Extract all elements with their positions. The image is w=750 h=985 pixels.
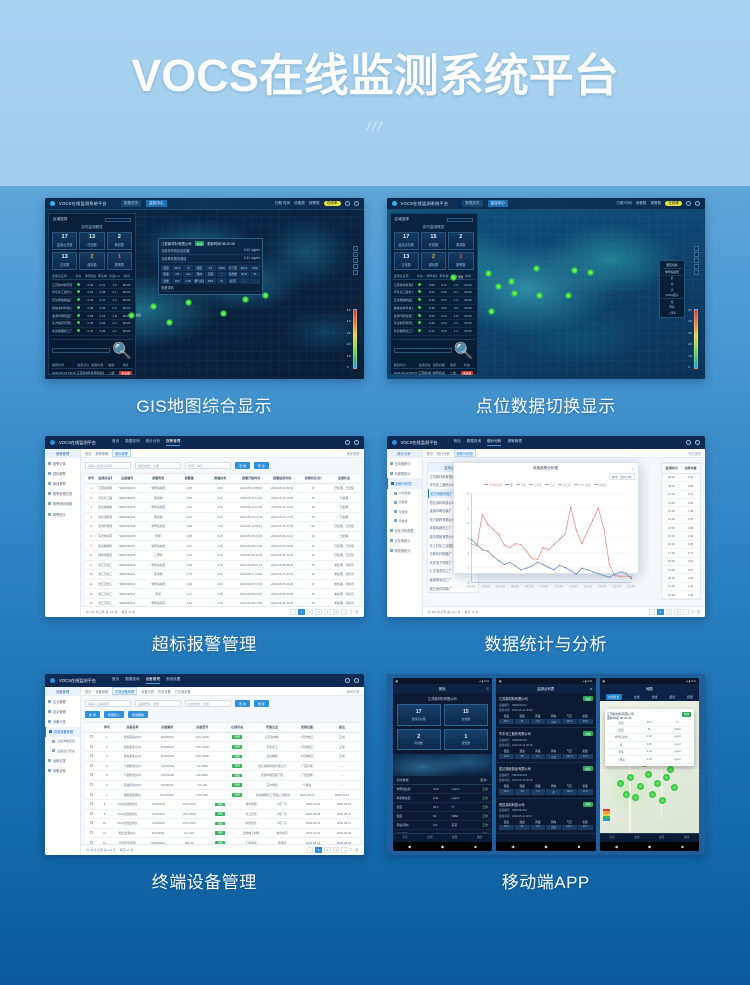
next-page-label[interactable]: 下一页 — [349, 848, 358, 852]
table-row[interactable]: 华东化工股份公司0.510.082.108:20 — [393, 289, 475, 297]
map-tab-全部点位[interactable]: 全部点位 — [606, 694, 622, 700]
table-row[interactable]: 9VOC在线监测仪JC230109VOC-5100在线长江石化2号厂房2022-… — [85, 810, 360, 820]
map-marker[interactable] — [565, 292, 572, 299]
table-row[interactable]: 永泰精细化工厂0.470.091.108:20 — [51, 328, 133, 336]
button-查 询[interactable]: 查 询 — [235, 700, 250, 707]
recents-icon[interactable]: ■ — [681, 844, 683, 849]
breadcrumb-item[interactable]: 报警管理 — [95, 451, 108, 456]
sidebar-item-排放量统计[interactable]: 排放量统计 — [387, 546, 422, 556]
breadcrumb-action[interactable]: 刷新列表 — [347, 689, 360, 694]
help-icon[interactable] — [686, 440, 691, 445]
menu-item-报警管理[interactable]: 报警管理 — [166, 439, 180, 446]
map-marker[interactable] — [128, 312, 135, 319]
map-marker[interactable] — [533, 265, 540, 272]
home-icon[interactable]: ◆ — [648, 844, 651, 849]
breadcrumb-item[interactable]: 超标报警 — [112, 449, 131, 457]
sidebar-item-设备台账[interactable]: 设备台账 — [45, 765, 80, 775]
row-checkbox[interactable] — [90, 812, 93, 815]
stat-card[interactable]: 13正常数 — [394, 252, 419, 270]
table-cell: 10 — [85, 572, 97, 576]
button-新 增[interactable]: 新 增 — [85, 711, 100, 718]
table-cell: 0.46 — [681, 576, 700, 580]
table-row[interactable]: 东方制药有限公司0.290.042.408:20 — [51, 320, 133, 328]
breadcrumb-item[interactable]: 已注册设备 — [175, 689, 191, 694]
table-header-row: 序号监测点名称设备编号报警类型报警值限值标准报警开始时间报警结束时间持续时长(分… — [85, 473, 360, 484]
prev-page-button[interactable]: ‹ — [649, 609, 655, 615]
data-row[interactable]: 温度25.3℃正常 — [393, 803, 493, 812]
filter-input[interactable]: 时间：本月 — [185, 462, 231, 469]
map-marker[interactable] — [617, 780, 624, 787]
back-icon[interactable]: ◀ — [615, 844, 618, 849]
data-row[interactable]: 苯系物浓度0.11mg/m³正常 — [393, 794, 493, 803]
value-table-row[interactable]: 19:000.51 — [662, 566, 700, 574]
sidebar-item-icon — [390, 539, 393, 542]
sidebar-item-报警规则设置[interactable]: 报警规则设置 — [45, 499, 80, 509]
table-row[interactable]: 5气相色谱仪02QX230105GC-9800在线金源印刷包装厂区厂区西侧— — [85, 771, 360, 781]
map-marker[interactable] — [663, 774, 670, 781]
value-table-row[interactable]: 14:000.88 — [662, 524, 700, 532]
map-marker[interactable] — [637, 783, 644, 790]
table-row[interactable]: 1江苏新材料有限公司SB20230101非甲烷总烃2.852.002023-05… — [85, 484, 360, 494]
table-row[interactable]: 5金源印刷包装厂SB20230105非甲烷总烃4.082.002023-05-1… — [85, 522, 360, 532]
page-number-1[interactable]: 1 — [657, 609, 664, 615]
sidebar-item-设备运行状态[interactable]: 设备运行状态 — [45, 746, 80, 755]
table-row[interactable]: 宏达橡胶制品厂0.430.071.208:20 — [51, 297, 133, 305]
map-tab-离线[interactable]: 离线 — [652, 695, 658, 699]
page-number-2[interactable]: 2 — [666, 609, 673, 615]
svg-text:08:00: 08:00 — [525, 585, 534, 589]
value-table-row[interactable]: 13:000.55 — [662, 516, 700, 524]
table-row[interactable]: 6东方制药有限公司SB20230106甲苯0.380.252023-05-09 … — [85, 532, 360, 542]
sidebar-item-日均值统计[interactable]: 日均值统计 — [387, 458, 422, 468]
page-number-1[interactable]: 1 — [298, 609, 305, 615]
page-number-2[interactable]: 2 — [324, 847, 331, 853]
table-row[interactable]: 4恒信涂料科技公司SB20230104苯系物0.610.402023-05-10… — [85, 513, 360, 523]
table-row[interactable]: 6风速风向仪01FS230106FX-120在线东方制药气象站— — [85, 781, 360, 791]
region-select[interactable] — [105, 218, 131, 222]
table-row[interactable]: 2终端采集仪02ZD230102VOC-3000在线华东化工2号排放口正常 — [85, 742, 360, 752]
user-icon[interactable] — [686, 201, 691, 206]
map-marker[interactable] — [645, 771, 652, 778]
row-checkbox[interactable] — [90, 831, 93, 834]
stat-card[interactable]: 1报警数 — [448, 252, 473, 270]
page-number-4[interactable]: 4 — [324, 609, 331, 615]
back-icon[interactable]: ◀ — [408, 844, 411, 849]
search-icon[interactable]: 🔍 — [454, 341, 474, 361]
sidebar-item-企业管理[interactable]: 企业管理 — [45, 696, 80, 706]
phone-title-action-icon[interactable]: ☰ — [486, 687, 489, 691]
stat-card[interactable]: 13在线数 — [79, 232, 104, 250]
tab-我的[interactable]: 我的 — [684, 836, 689, 839]
table-row[interactable]: 江苏新材料有限公司0.620.111.508:20 — [51, 281, 133, 289]
map-control-button[interactable] — [353, 252, 358, 257]
map-marker[interactable] — [150, 303, 157, 310]
value-table-row[interactable]: 15:001.02 — [662, 532, 700, 540]
menu-item-报警管理[interactable]: 报警管理 — [507, 439, 521, 446]
screenshot-point-switch[interactable]: VOCS在线监测系统平台数据总览监控中心日期 时间设备数报警数在线率区域选择实时… — [387, 198, 706, 379]
breadcrumb-item[interactable]: 终端设备管理 — [112, 687, 137, 695]
table-cell: 0.40 — [205, 496, 236, 500]
next-page-button[interactable]: › — [341, 847, 347, 853]
tab-报警[interactable]: 报警 — [452, 836, 457, 839]
map-marker[interactable] — [587, 269, 594, 276]
map-control-button[interactable] — [694, 246, 699, 251]
breadcrumb-item[interactable]: 统计分析 — [437, 451, 450, 456]
row-checkbox[interactable] — [90, 821, 93, 824]
user-avatar-icon[interactable] — [354, 678, 359, 683]
status-badge: 在线 — [215, 831, 225, 835]
screenshot-gis-map[interactable]: VOCS在线监测系统平台数据总览监控中心日期 时间设备数报警数在线率区域选择实时… — [45, 198, 364, 379]
tab-监测[interactable]: 监测 — [427, 836, 432, 839]
nav-item-数据总览[interactable]: 数据总览 — [462, 200, 482, 207]
row-checkbox[interactable] — [90, 783, 93, 786]
button-批量删除[interactable]: 批量删除 — [128, 711, 148, 718]
map-control-button[interactable] — [694, 264, 699, 269]
legend-item-乙苯[interactable]: 乙苯 — [545, 483, 555, 487]
table-row[interactable]: 11粉尘监测仪01FC230111FC-200在线天成电子材料抛光车间2022-… — [85, 829, 360, 839]
alarm-row[interactable]: 2023-05-12 08:15江苏新材料非甲烷总烃超标，浓度 2.85mg/m… — [51, 370, 133, 378]
map-control-button[interactable] — [353, 264, 358, 269]
alarm-row[interactable]: 2023-05-12 07:48金源印刷包装苯系物浓度超标报警信息提示一级未处理 — [393, 377, 475, 379]
menu-item-数据查询[interactable]: 数据查询 — [125, 677, 139, 684]
table-row[interactable]: 12长江石化工业园区SB20230112甲苯0.410.252023-05-06… — [85, 589, 360, 599]
menu-item-统计分析[interactable]: 统计分析 — [487, 439, 501, 446]
popup-measure-cell: % — [250, 272, 260, 278]
legend-item[interactable]: 二甲苯 — [662, 310, 683, 316]
map-marker[interactable] — [654, 780, 661, 787]
stat-card[interactable]: 2离线数 — [448, 232, 473, 250]
table-row[interactable]: 8VOC在线监测仪JC230108VOC-5100在线瑞丰塑胶1号厂房2022-… — [85, 800, 360, 810]
list-item[interactable]: 宏达橡胶制品有限公司设备编号：SB20230103更新时间：2023-05-12… — [496, 763, 596, 798]
more-link[interactable]: 更多> — [480, 778, 488, 782]
home-icon[interactable]: ◆ — [545, 844, 548, 849]
prev-page-button[interactable]: ‹ — [307, 847, 313, 853]
table-row[interactable]: 10VOC在线监测仪JC230110VOC-5100在线中原化纤3号厂房2022… — [85, 819, 360, 829]
site-selector[interactable]: 江苏新材料有限公司 — [393, 693, 493, 704]
list-item[interactable]: 江苏新材料有限公司设备编号：SB20230101更新时间：2023-05-12 … — [496, 693, 596, 728]
button-批量导入[interactable]: 批量导入 — [104, 711, 124, 718]
breadcrumb-item[interactable]: 设备列表 — [141, 689, 154, 694]
sidebar-item-设备参数配置[interactable]: 设备参数配置 — [45, 737, 80, 746]
user-icon[interactable] — [345, 201, 350, 206]
list-item[interactable]: 华东化工股份有限公司设备编号：SB20230102更新时间：2023-05-12… — [496, 728, 596, 763]
value-table-row[interactable]: 16:000.93 — [662, 541, 700, 549]
stat-card[interactable]: 15在线数 — [444, 704, 488, 726]
table-row[interactable]: 4气相色谱仪01QX230104GC-9800在线恒信涂料科技有限公司厂区东侧— — [85, 762, 360, 772]
sidebar-item-离线报警[interactable]: 离线报警 — [45, 478, 80, 488]
breadcrumb-item[interactable]: 在线设备 — [158, 689, 171, 694]
stat-card[interactable]: 17监测点总数 — [397, 704, 441, 726]
tab-首页[interactable]: 首页 — [402, 836, 407, 839]
button-查 询[interactable]: 查 询 — [235, 462, 250, 469]
table-row[interactable]: 1终端采集仪01ZD230101VOC-3000在线江苏新材料1号排放口正常 — [85, 733, 360, 743]
sidebar-item-设备分类[interactable]: 设备分类 — [45, 716, 80, 726]
page-size[interactable]: 每页 15 条 — [121, 610, 135, 614]
next-page-label[interactable]: 下一页 — [691, 610, 700, 614]
breadcrumb-action[interactable]: 刷新数据 — [347, 451, 360, 456]
page-number-3[interactable]: 3 — [674, 609, 681, 615]
value-table-row[interactable]: 18:000.64 — [662, 558, 700, 566]
user-avatar-icon[interactable] — [695, 440, 700, 445]
legend-item-苯[interactable]: 苯 — [505, 483, 513, 487]
sidebar-item-超标报警[interactable]: 超标报警 — [45, 468, 80, 478]
value-table-row[interactable]: 08:000.62 — [662, 474, 700, 482]
sidebar-item-对比分析报表[interactable]: 对比分析报表 — [387, 525, 422, 535]
map-zoom-controls[interactable] — [353, 246, 358, 275]
map-marker[interactable] — [649, 791, 656, 798]
table-row[interactable]: 7永泰精细化工厂SB20230107非甲烷总烃2.472.002023-05-0… — [85, 541, 360, 551]
settings-icon[interactable] — [695, 201, 700, 206]
stat-value: 17 — [53, 235, 76, 241]
legend-item-限值线[interactable]: 限值线 — [594, 483, 607, 487]
stat-card[interactable]: 2超标数 — [79, 252, 104, 270]
help-icon[interactable] — [345, 678, 350, 683]
stat-card[interactable]: 2离线数 — [107, 232, 132, 250]
filter-input[interactable]: 请输入监测点名称 — [85, 462, 131, 469]
region-select[interactable] — [447, 218, 473, 222]
table-cell: 08:20 — [462, 314, 473, 318]
list-item[interactable]: 恒信涂料科技公司设备编号：SB20230104更新时间：2023-05-12 0… — [496, 799, 596, 834]
nav-item-监控中心[interactable]: 监控中心 — [146, 200, 166, 207]
value-table-row[interactable]: 17:000.77 — [662, 549, 700, 557]
table-row[interactable]: 东方制药有限公司0.290.042.408:20 — [393, 320, 475, 328]
breadcrumb-item[interactable]: 首页 — [85, 451, 91, 456]
map-marker[interactable] — [571, 267, 578, 274]
map-marker[interactable] — [508, 278, 515, 285]
menu-item-统计分析[interactable]: 统计分析 — [146, 439, 160, 446]
table-row[interactable]: 华东化工股份公司0.510.082.108:20 — [51, 289, 133, 297]
page-number-5[interactable]: 5 — [333, 609, 340, 615]
table-row[interactable]: 恒信涂料科技公司0.380.050.908:20 — [393, 305, 475, 313]
map-marker[interactable] — [627, 774, 634, 781]
legend-item-非甲烷总烃[interactable]: 非甲烷总烃 — [484, 483, 502, 487]
menu-item-首页[interactable]: 首页 — [112, 677, 119, 684]
table-cell: QX230105 — [150, 773, 185, 777]
nav-item-监控中心[interactable]: 监控中心 — [488, 200, 508, 207]
filter-input[interactable]: 在线状态：全部 — [185, 700, 231, 707]
table-row[interactable]: 3宏达橡胶制品厂SB20230103非甲烷总烃3.122.002023-05-1… — [85, 503, 360, 513]
next-page-button[interactable]: › — [683, 609, 689, 615]
value-table-row[interactable]: 12:000.49 — [662, 507, 700, 515]
page-number-1[interactable]: 1 — [315, 847, 322, 853]
row-checkbox[interactable] — [90, 764, 93, 767]
row-checkbox[interactable] — [90, 802, 93, 805]
stat-card[interactable]: 1报警数 — [444, 729, 488, 751]
dashboard-header: VOCS在线监测系统平台数据总览监控中心日期 时间设备数报警数在线率 — [387, 198, 706, 210]
sidebar-item-站点管理[interactable]: 站点管理 — [45, 706, 80, 716]
user-avatar-icon[interactable] — [354, 440, 359, 445]
value-table-row[interactable]: 21:000.42 — [662, 583, 700, 591]
sidebar-item-达标率统计[interactable]: 达标率统计 — [387, 536, 422, 546]
tab-监测[interactable]: 监测 — [634, 836, 639, 839]
screenshot-device-manage[interactable]: VOCS在线监测平台首页数据查询设备管理系统设置设备管理企业管理站点管理设备分类… — [45, 674, 364, 855]
stat-card[interactable]: 13正常数 — [52, 252, 77, 270]
alarm-row[interactable]: 2023-05-12 07:48金源印刷包装苯系物浓度超标报警信息提示一级未处理 — [51, 377, 133, 379]
value-table-row[interactable]: 11:000.66 — [662, 499, 700, 507]
gis-dashboard: VOCS在线监测系统平台数据总览监控中心日期 时间设备数报警数在线率区域选择实时… — [45, 198, 364, 379]
search-icon[interactable]: 🔍 — [112, 341, 132, 361]
table-row[interactable]: 3终端采集仪03ZD230103VOC-3000在线宏达橡胶3号排放口正常 — [85, 752, 360, 762]
page-number-3[interactable]: 3 — [315, 609, 322, 615]
map-canvas[interactable]: 江苏新材料有限公司更新时间 08:20:35在线温度25.3℃湿度61%RH非甲… — [600, 693, 700, 833]
filter-input[interactable]: 设备类型：全部 — [135, 700, 181, 707]
tab-首页[interactable]: 首页 — [609, 836, 614, 839]
map-zoom-controls[interactable] — [694, 246, 699, 275]
table-row[interactable]: 2华东化工股份公司SB20230102苯系物0.560.402023-05-11… — [85, 493, 360, 503]
row-checkbox[interactable] — [90, 745, 93, 748]
settings-icon[interactable] — [354, 201, 359, 206]
screenshot-mobile-app[interactable]: ▣⊿ ▮ 9:41首页☰江苏新材料有限公司17监测点总数15在线数2离线数1报警… — [387, 674, 706, 855]
popup-footer-link[interactable]: 查看详情 — [161, 285, 260, 292]
menu-item-数据查询[interactable]: 数据查询 — [467, 439, 481, 446]
legend-group2-title: VOCs因子 — [662, 292, 683, 299]
chart-range-select[interactable]: 时间：近24小时 — [609, 473, 635, 480]
map-marker[interactable] — [659, 797, 666, 804]
map-control-button[interactable] — [353, 258, 358, 263]
button-导 出[interactable]: 导 出 — [254, 462, 269, 469]
data-row[interactable]: 湿度61%RH正常 — [393, 812, 493, 821]
sidebar-item-小时数据[interactable]: 小时数据 — [387, 489, 422, 498]
sidebar-item-终端设备管理[interactable]: 终端设备管理 — [45, 727, 80, 737]
map-tab-在线[interactable]: 在线 — [634, 695, 640, 699]
sidebar-item-趋势分析图[interactable]: 趋势分析图 — [387, 478, 422, 488]
menu-item-设备管理[interactable]: 设备管理 — [146, 677, 160, 684]
alarm-row[interactable]: 2023-05-12 08:15江苏新材料非甲烷总烃超标，浓度 2.85mg/m… — [393, 370, 475, 378]
back-icon[interactable]: ◀ — [511, 844, 514, 849]
value-table-row[interactable]: 20:000.46 — [662, 574, 700, 582]
table-row[interactable]: 11长江石化工业园区SB20230111非甲烷总烃2.932.002023-05… — [85, 580, 360, 590]
home-icon[interactable]: ◆ — [441, 844, 444, 849]
map-tab-超标[interactable]: 超标 — [670, 695, 676, 699]
help-icon[interactable] — [345, 440, 350, 445]
table-row[interactable]: 9长江石化工业园区SB20230109非甲烷总烃5.262.002023-05-… — [85, 561, 360, 571]
recents-icon[interactable]: ■ — [474, 844, 476, 849]
screenshot-data-analysis[interactable]: VOCS在线监测平台首页数据查询统计分析报警管理统计分析日均值统计月报表统计趋势… — [387, 436, 706, 617]
value-table-row[interactable]: 22:000.39 — [662, 591, 700, 599]
recents-icon[interactable]: ■ — [578, 844, 580, 849]
tab-报警[interactable]: 报警 — [659, 836, 664, 839]
screenshot-alarm-manage[interactable]: VOCS在线监测平台首页数据查询统计分析报警管理报警管理报警记录超标报警离线报警… — [45, 436, 364, 617]
map-control-button[interactable] — [353, 246, 358, 251]
table-row[interactable]: 7数据采集网关WG230107DTU-500在线永泰精细化工有限公司机房机柜20… — [85, 790, 360, 800]
breadcrumb-item[interactable]: 趋势分析图 — [454, 449, 476, 457]
menu-item-数据查询[interactable]: 数据查询 — [125, 439, 139, 446]
table-row[interactable]: 10长江石化工业园区SB20230110苯系物0.720.402023-05-0… — [85, 570, 360, 580]
legend-item-二甲苯[interactable]: 二甲苯 — [529, 483, 542, 487]
filter-input[interactable]: 请输入设备名称 — [85, 700, 131, 707]
table-row[interactable]: 13长江石化工业园区SB20230113非甲烷总烃3.642.002023-05… — [85, 599, 360, 606]
alarm-search-input[interactable] — [52, 348, 110, 353]
row-checkbox[interactable] — [90, 773, 93, 776]
sidebar-item-年数据[interactable]: 年数据 — [387, 516, 422, 525]
map-marker[interactable] — [667, 766, 674, 773]
breadcrumb-item[interactable]: 首页 — [427, 451, 433, 456]
data-row[interactable]: 排放流量312m³/h正常 — [393, 830, 493, 833]
popup-data-cell: 61 — [635, 728, 663, 732]
map-control-button[interactable] — [353, 270, 358, 275]
sidebar-item-报警处理记录[interactable]: 报警处理记录 — [45, 489, 80, 499]
next-page-label[interactable]: 下一页 — [349, 610, 358, 614]
sidebar-item-月数据[interactable]: 月数据 — [387, 507, 422, 516]
data-row[interactable]: 非甲烷总烃0.62mg/m³正常 — [393, 785, 493, 794]
stat-card[interactable]: 17监测点总数 — [394, 232, 419, 250]
map-marker[interactable] — [671, 784, 678, 791]
table-row[interactable]: 宏达橡胶制品厂0.430.071.208:20 — [393, 297, 475, 305]
map-control-button[interactable] — [694, 258, 699, 263]
stat-card[interactable]: 17监测点总数 — [52, 232, 77, 250]
header-menu: 首页数据查询统计分析报警管理 — [112, 439, 180, 446]
row-checkbox[interactable] — [90, 735, 93, 738]
phone-title-action-icon[interactable]: ⚙ — [590, 687, 593, 691]
stat-card[interactable]: 1报警数 — [107, 252, 132, 270]
table-row[interactable]: 恒信涂料科技公司0.380.050.908:20 — [51, 305, 133, 313]
legend-item-VOCs总量[interactable]: VOCs总量 — [574, 483, 591, 487]
map-control-button[interactable] — [694, 252, 699, 257]
map-marker[interactable] — [511, 290, 518, 297]
page-number-2[interactable]: 2 — [307, 609, 314, 615]
table-row[interactable]: 永泰精细化工厂0.470.091.108:20 — [393, 328, 475, 336]
row-checkbox[interactable] — [90, 793, 93, 796]
nav-item-数据总览[interactable]: 数据总览 — [121, 200, 141, 207]
table-row[interactable]: 金源印刷包装厂0.550.121.808:20 — [393, 312, 475, 320]
map-control-button[interactable] — [694, 270, 699, 275]
legend-item-苯乙烯[interactable]: 苯乙烯 — [558, 483, 571, 487]
sidebar-item-报警统计[interactable]: 报警统计 — [45, 509, 80, 519]
stat-card[interactable]: 2离线数 — [397, 729, 441, 751]
page-number-3[interactable]: 3 — [333, 847, 340, 853]
map-marker[interactable] — [495, 283, 502, 290]
stat-card[interactable]: 2超标数 — [421, 252, 446, 270]
sidebar-item-运维记录[interactable]: 运维记录 — [45, 755, 80, 765]
map-marker[interactable] — [632, 794, 639, 801]
breadcrumb-item[interactable]: 首页 — [85, 689, 91, 694]
column-header: 监测点名称 — [52, 274, 72, 278]
status-cell — [414, 321, 425, 325]
stat-card[interactable]: 15在线数 — [421, 232, 446, 250]
data-row[interactable]: 风速/风向1.5东南正常 — [393, 821, 493, 830]
item-measure-grid: 温度湿度风速风向气压氧量25.0600.9西南101.120.7 — [499, 820, 593, 830]
map-tab-报警[interactable]: 报警 — [687, 695, 693, 699]
table-row[interactable]: 8瑞丰塑胶有限公司SB20230108二甲苯0.330.202023-05-08… — [85, 551, 360, 561]
page-size[interactable]: 每页 15 条 — [465, 610, 479, 614]
stat-value: 13 — [80, 235, 103, 241]
table-row[interactable]: 江苏新材料有限公司0.620.111.508:20 — [393, 281, 475, 289]
value-table-row[interactable]: 09:000.58 — [662, 482, 700, 490]
next-page-button[interactable]: › — [341, 609, 347, 615]
legend-item-甲苯[interactable]: 甲苯 — [516, 483, 526, 487]
menu-item-系统设置[interactable]: 系统设置 — [166, 677, 180, 684]
tab-我的[interactable]: 我的 — [477, 836, 482, 839]
table-cell: 2023-05-10 16:42 — [236, 515, 267, 519]
sidebar-item-日数据[interactable]: 日数据 — [387, 498, 422, 507]
alarm-search-input[interactable] — [394, 348, 452, 353]
sidebar-item-报警记录[interactable]: 报警记录 — [45, 458, 80, 468]
close-icon[interactable]: × — [631, 467, 633, 471]
sidebar-item-月报表统计[interactable]: 月报表统计 — [387, 468, 422, 478]
prev-page-button[interactable]: ‹ — [290, 609, 296, 615]
menu-item-首页[interactable]: 首页 — [112, 439, 119, 446]
menu-item-首页[interactable]: 首页 — [454, 439, 461, 446]
page-size[interactable]: 每页 15 条 — [120, 848, 134, 852]
table-row[interactable]: 金源印刷包装厂0.550.121.808:20 — [51, 312, 133, 320]
value-table-row[interactable]: 10:000.71 — [662, 491, 700, 499]
breadcrumb-action[interactable]: 导出报表 — [688, 451, 701, 456]
row-checkbox[interactable] — [90, 754, 93, 757]
stat-label: 监测点总数 — [395, 242, 418, 247]
filter-input[interactable]: 报警类型：全部 — [135, 462, 181, 469]
breadcrumb-item[interactable]: 设备管理 — [95, 689, 108, 694]
button-重 置[interactable]: 重 置 — [254, 700, 269, 707]
